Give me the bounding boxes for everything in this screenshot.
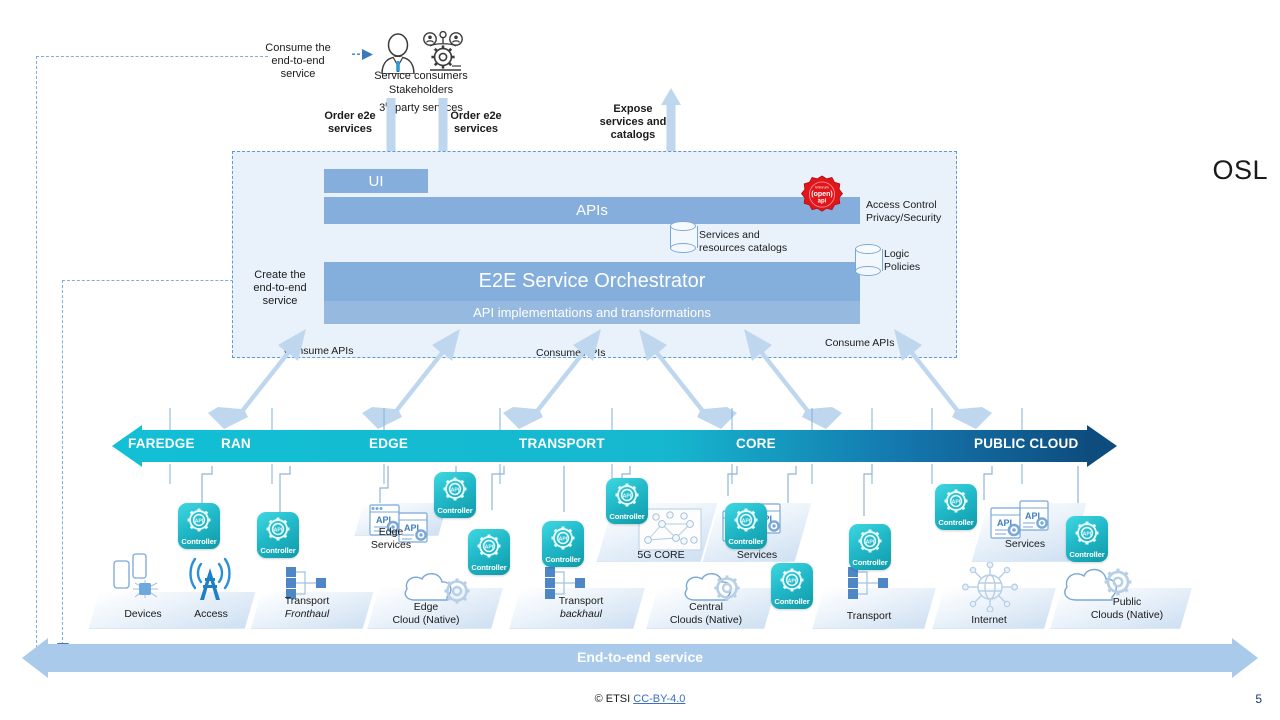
api-gear-icon: API: [1073, 520, 1101, 548]
logic-line1: Logic: [884, 248, 909, 260]
label-access: Access: [182, 608, 240, 621]
controller-public-services[interactable]: API Controller: [935, 484, 977, 530]
footer-copyright: © ETSI: [595, 693, 634, 705]
controller-core-transport[interactable]: API Controller: [725, 503, 767, 549]
consumers-line1: Service consumers: [374, 70, 468, 82]
catalog-line2: resources catalogs: [699, 242, 787, 254]
api-implementations-block[interactable]: API implementations and transformations: [324, 301, 860, 324]
svg-text:API: API: [623, 493, 632, 499]
callout-consume: Consume the end-to-end service: [246, 42, 350, 81]
controller-fronthaul[interactable]: API Controller: [257, 512, 299, 558]
api-gear-icon: API: [185, 507, 213, 535]
access-control-label: Access Control Privacy/Security: [866, 199, 952, 225]
svg-text:API: API: [451, 487, 460, 493]
label-central-clouds-l2: Clouds (Native): [670, 614, 742, 626]
callout-consume-line3: service: [281, 68, 316, 80]
label-edge-services: Edge Services: [358, 526, 424, 551]
order-left-line1: Order e2e: [324, 110, 375, 122]
controller-label: Controller: [771, 597, 813, 606]
license-link[interactable]: CC-BY-4.0: [633, 693, 685, 705]
network-nodes-icon-core-transport: [845, 566, 891, 600]
page-number: 5: [1255, 692, 1262, 706]
api-gear-icon: API: [264, 516, 292, 544]
callout-consume-bold: Consume: [265, 42, 312, 54]
svg-text:API: API: [742, 518, 751, 524]
callout-create-rest: the: [287, 269, 305, 281]
access-control-line2: Privacy/Security: [866, 212, 941, 224]
consume-route-outer: [36, 56, 268, 57]
svg-text:API: API: [274, 527, 283, 533]
api-gear-icon: API: [549, 525, 577, 553]
order-right-line1: Order e2e: [450, 110, 501, 122]
controller-label: Controller: [468, 563, 510, 572]
label-core-services: Services: [726, 549, 788, 562]
label-devices: Devices: [113, 608, 173, 621]
callout-consume-rest: the: [312, 42, 330, 54]
callout-create-bold: Create: [254, 269, 287, 281]
api-gear-icon: API: [613, 482, 641, 510]
svg-text:tmforum: tmforum: [815, 186, 828, 190]
label-transport-backhaul-sub: backhaul: [560, 608, 602, 620]
stakeholders-gear-icon: [421, 30, 465, 74]
controller-core-services[interactable]: API Controller: [849, 524, 891, 570]
svg-text:API: API: [866, 539, 875, 545]
label-edge-services-l1: Edge: [379, 526, 404, 538]
devices-icon: [113, 553, 169, 599]
expose-line1: Expose: [613, 103, 652, 115]
create-route: [62, 280, 248, 281]
controller-label: Controller: [434, 506, 476, 515]
consumers-caption: Service consumers Stakeholders 3rd party…: [352, 70, 490, 115]
svg-text:API: API: [559, 536, 568, 542]
controller-central-clouds[interactable]: API Controller: [771, 563, 813, 609]
logic-policies-label: Logic Policies: [884, 248, 944, 274]
label-transport-fronthaul: Transport Fronthaul: [262, 595, 352, 620]
expose-line3: catalogs: [611, 129, 656, 141]
callout-create-line2: end-to-end: [253, 282, 306, 294]
callout-create-line3: service: [263, 295, 298, 307]
svg-text:API: API: [195, 518, 204, 524]
consume-arrowhead-icon: [352, 47, 374, 63]
svg-text:API: API: [952, 499, 961, 505]
services-catalog-cylinder: [670, 221, 696, 253]
controller-label: Controller: [606, 512, 648, 521]
label-public-clouds-l2: Clouds (Native): [1091, 609, 1163, 621]
controller-edge-services[interactable]: API Controller: [434, 472, 476, 518]
controller-label: Controller: [725, 537, 767, 546]
svg-text:(open): (open): [811, 191, 832, 198]
label-internet: Internet: [955, 614, 1023, 627]
e2e-service-orchestrator-block[interactable]: E2E Service Orchestrator: [324, 262, 860, 301]
label-public-clouds: Public Clouds (Native): [1079, 596, 1175, 621]
controller-label: Controller: [1066, 550, 1108, 559]
ui-block[interactable]: UI: [324, 169, 428, 193]
api-gear-icon: API: [441, 476, 469, 504]
apis-block[interactable]: APIs: [324, 197, 860, 224]
logic-line2: Policies: [884, 261, 920, 273]
api-gear-icon: API: [732, 507, 760, 535]
access-control-line1: Access Control: [866, 199, 937, 211]
consume-route-outer-vertical: [36, 56, 37, 658]
callout-create: Create the end-to-end service: [240, 269, 320, 308]
label-central-clouds: Central Clouds (Native): [657, 601, 755, 626]
controller-label: Controller: [542, 555, 584, 564]
label-edge-services-l2: Services: [371, 539, 411, 551]
catalog-line1: Services and: [699, 229, 760, 241]
controller-access[interactable]: API Controller: [178, 503, 220, 549]
label-transport-fronthaul-main: Transport: [285, 595, 330, 607]
end-to-end-service-label: End-to-end service: [0, 649, 1280, 665]
svg-text:API: API: [485, 544, 494, 550]
create-route-vertical: [62, 280, 63, 645]
osl-title: OSL: [1212, 155, 1268, 186]
callout-consume-line2: end-to-end: [271, 55, 324, 67]
label-transport-backhaul: Transport backhaul: [536, 595, 626, 620]
label-central-clouds-l1: Central: [689, 601, 723, 613]
label-edge-cloud: Edge Cloud (Native): [380, 601, 472, 626]
order-left-line2: services: [328, 123, 372, 135]
api-gear-icon: API: [856, 528, 884, 556]
controller-backhaul[interactable]: API Controller: [542, 521, 584, 567]
label-core-transport: Transport: [834, 610, 904, 623]
label-transport-backhaul-main: Transport: [559, 595, 604, 607]
logic-policies-cylinder: [855, 244, 881, 276]
controller-label: Controller: [935, 518, 977, 527]
controller-edge-cloud[interactable]: API Controller: [468, 529, 510, 575]
controller-label: Controller: [849, 558, 891, 567]
callout-order-left: Order e2e services: [312, 110, 388, 136]
antenna-icon: [186, 554, 234, 602]
label-transport-fronthaul-sub: Fronthaul: [285, 608, 329, 620]
api-gear-icon: API: [942, 488, 970, 516]
api-gear-icon: API: [475, 533, 503, 561]
label-edge-cloud-l2: Cloud (Native): [392, 614, 459, 626]
consumers-line2: Stakeholders: [389, 84, 453, 96]
api-gear-icon: API: [778, 567, 806, 595]
footer: © ETSI CC-BY-4.0: [0, 693, 1280, 705]
label-public-clouds-l1: Public: [1113, 596, 1142, 608]
diagram-canvas: Consume the end-to-end service: [0, 0, 1280, 720]
controller-public-clouds[interactable]: API Controller: [1066, 516, 1108, 562]
svg-text:api: api: [818, 199, 827, 205]
order-right-line2: services: [454, 123, 498, 135]
controller-5g-core[interactable]: API Controller: [606, 478, 648, 524]
controller-label: Controller: [178, 537, 220, 546]
services-catalog-label: Services and resources catalogs: [699, 229, 791, 255]
svg-text:API: API: [1083, 531, 1092, 537]
expose-line2: services and: [600, 116, 667, 128]
globe-icon: [962, 562, 1018, 612]
svg-text:API: API: [788, 578, 797, 584]
api-docs-icon-public: API API: [990, 500, 1052, 542]
label-edge-cloud-l1: Edge: [414, 601, 439, 613]
label-public-services: Services: [994, 538, 1056, 551]
label-5g-core: 5G CORE: [628, 549, 694, 562]
tmforum-open-api-seal-icon: tmforum (open) api: [801, 175, 843, 217]
controller-label: Controller: [257, 546, 299, 555]
person-icon: [379, 32, 417, 74]
